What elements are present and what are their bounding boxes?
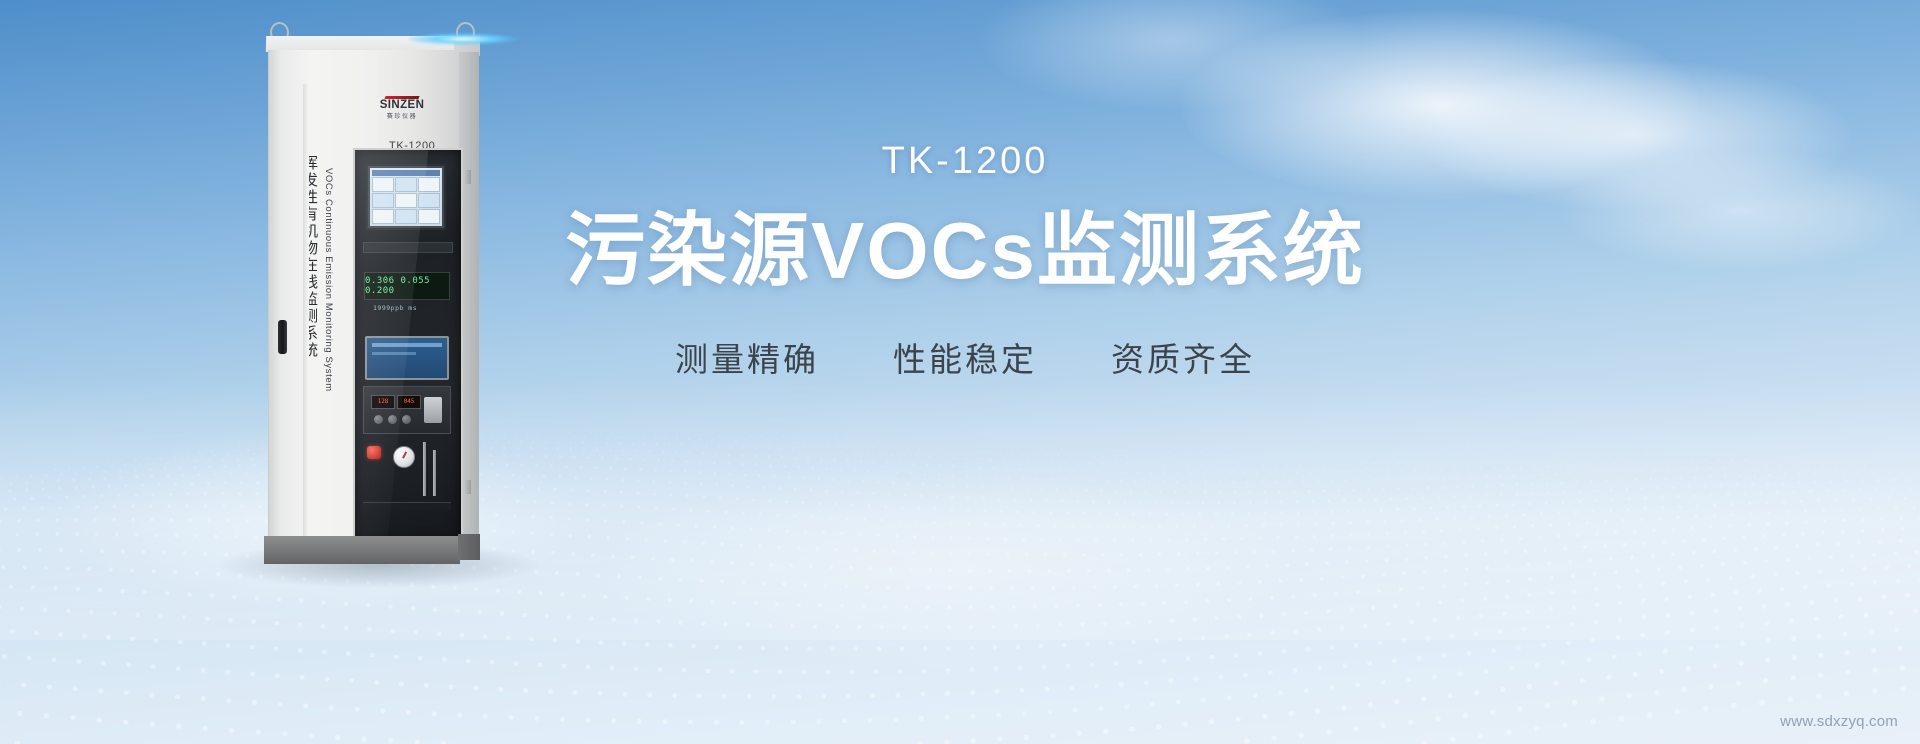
control-knob[interactable] — [388, 415, 397, 424]
emergency-stop-button[interactable] — [367, 446, 381, 459]
cabinet-base-plinth — [264, 536, 460, 564]
analyzer-label-strip — [363, 242, 453, 253]
brand-logo: SINZEN 赛珍仪器 — [367, 96, 437, 120]
door-handle[interactable] — [278, 320, 287, 354]
cabinet-vertical-chinese-text: 挥发性有机物在线监测系统 — [298, 155, 320, 359]
top-light-glow — [408, 33, 518, 45]
control-knob[interactable] — [374, 415, 383, 424]
hmi-cell — [372, 193, 394, 208]
feature-item: 资质齐全 — [1111, 333, 1255, 381]
gas-tube — [433, 450, 436, 496]
cloud-decoration — [1560, 150, 1920, 270]
digital-readout-display: 0.306 0.055 0.200 — [364, 272, 450, 300]
gas-tube — [423, 442, 426, 496]
lower-module-strip — [363, 502, 451, 510]
product-banner: SINZEN 赛珍仪器 TK-1200 挥发性有机物在线监测系统 VOCs Co… — [0, 0, 1920, 744]
feature-list: 测量精确 性能稳定 资质齐全 — [555, 333, 1375, 381]
hmi-cell — [418, 177, 440, 192]
hmi-cell — [418, 209, 440, 224]
feature-item: 性能稳定 — [893, 333, 1037, 381]
cabinet-base-side — [458, 534, 480, 560]
cabinet-front-face: SINZEN 赛珍仪器 TK-1200 挥发性有机物在线监测系统 VOCs Co… — [268, 50, 459, 538]
cabinet-vertical-english-text: VOCs Continuous Emission Monitoring Syst… — [323, 168, 334, 418]
hmi-cell — [372, 209, 394, 224]
hmi-data-grid — [372, 177, 440, 224]
cloud-decoration — [600, 470, 1300, 670]
control-readout-a: 128 — [371, 395, 395, 409]
readout-unit: 1999ppb ms — [373, 304, 417, 312]
door-frame — [303, 84, 309, 554]
valve-block — [424, 397, 442, 423]
cloud-decoration — [1420, 60, 1850, 210]
cabinet-glass-door: 0.306 0.055 0.200 1999ppb ms 128 045 — [353, 148, 463, 544]
headline: 污染源VOCs监测系统 — [555, 209, 1375, 293]
banner-copy-block: TK-1200 污染源VOCs监测系统 测量精确 性能稳定 资质齐全 — [555, 140, 1375, 381]
logo-swoosh-icon — [384, 96, 419, 99]
hmi-title-bar — [372, 170, 440, 176]
brand-subtitle: 赛珍仪器 — [367, 114, 437, 120]
control-sub-panel: 128 045 — [363, 386, 451, 434]
door-hinge — [465, 170, 471, 184]
readout-value: 0.306 0.055 0.200 — [365, 276, 449, 296]
feature-item: 测量精确 — [675, 333, 819, 381]
model-heading: TK-1200 — [555, 140, 1375, 183]
control-knob[interactable] — [402, 415, 411, 424]
instrument-cabinet: SINZEN 赛珍仪器 TK-1200 挥发性有机物在线监测系统 VOCs Co… — [258, 22, 498, 567]
hmi-cell — [418, 193, 440, 208]
control-readout-a-value: 128 — [372, 396, 394, 408]
door-hinge — [465, 480, 471, 494]
pressure-gauge-icon — [393, 446, 415, 468]
site-watermark: www.sdxzyq.com — [1780, 713, 1898, 730]
hmi-cell — [372, 177, 394, 192]
control-readout-b: 045 — [397, 395, 421, 409]
hmi-touch-screen[interactable] — [366, 164, 446, 230]
hmi-cell — [395, 209, 417, 224]
hmi-screen-content — [370, 168, 442, 226]
control-readout-b-value: 045 — [398, 396, 420, 408]
brand-name: SINZEN — [367, 100, 437, 112]
hmi-cell — [395, 193, 417, 208]
cloud-decoration — [980, 0, 1360, 110]
hmi-cell — [395, 177, 417, 192]
lcd-status-panel — [365, 336, 449, 380]
